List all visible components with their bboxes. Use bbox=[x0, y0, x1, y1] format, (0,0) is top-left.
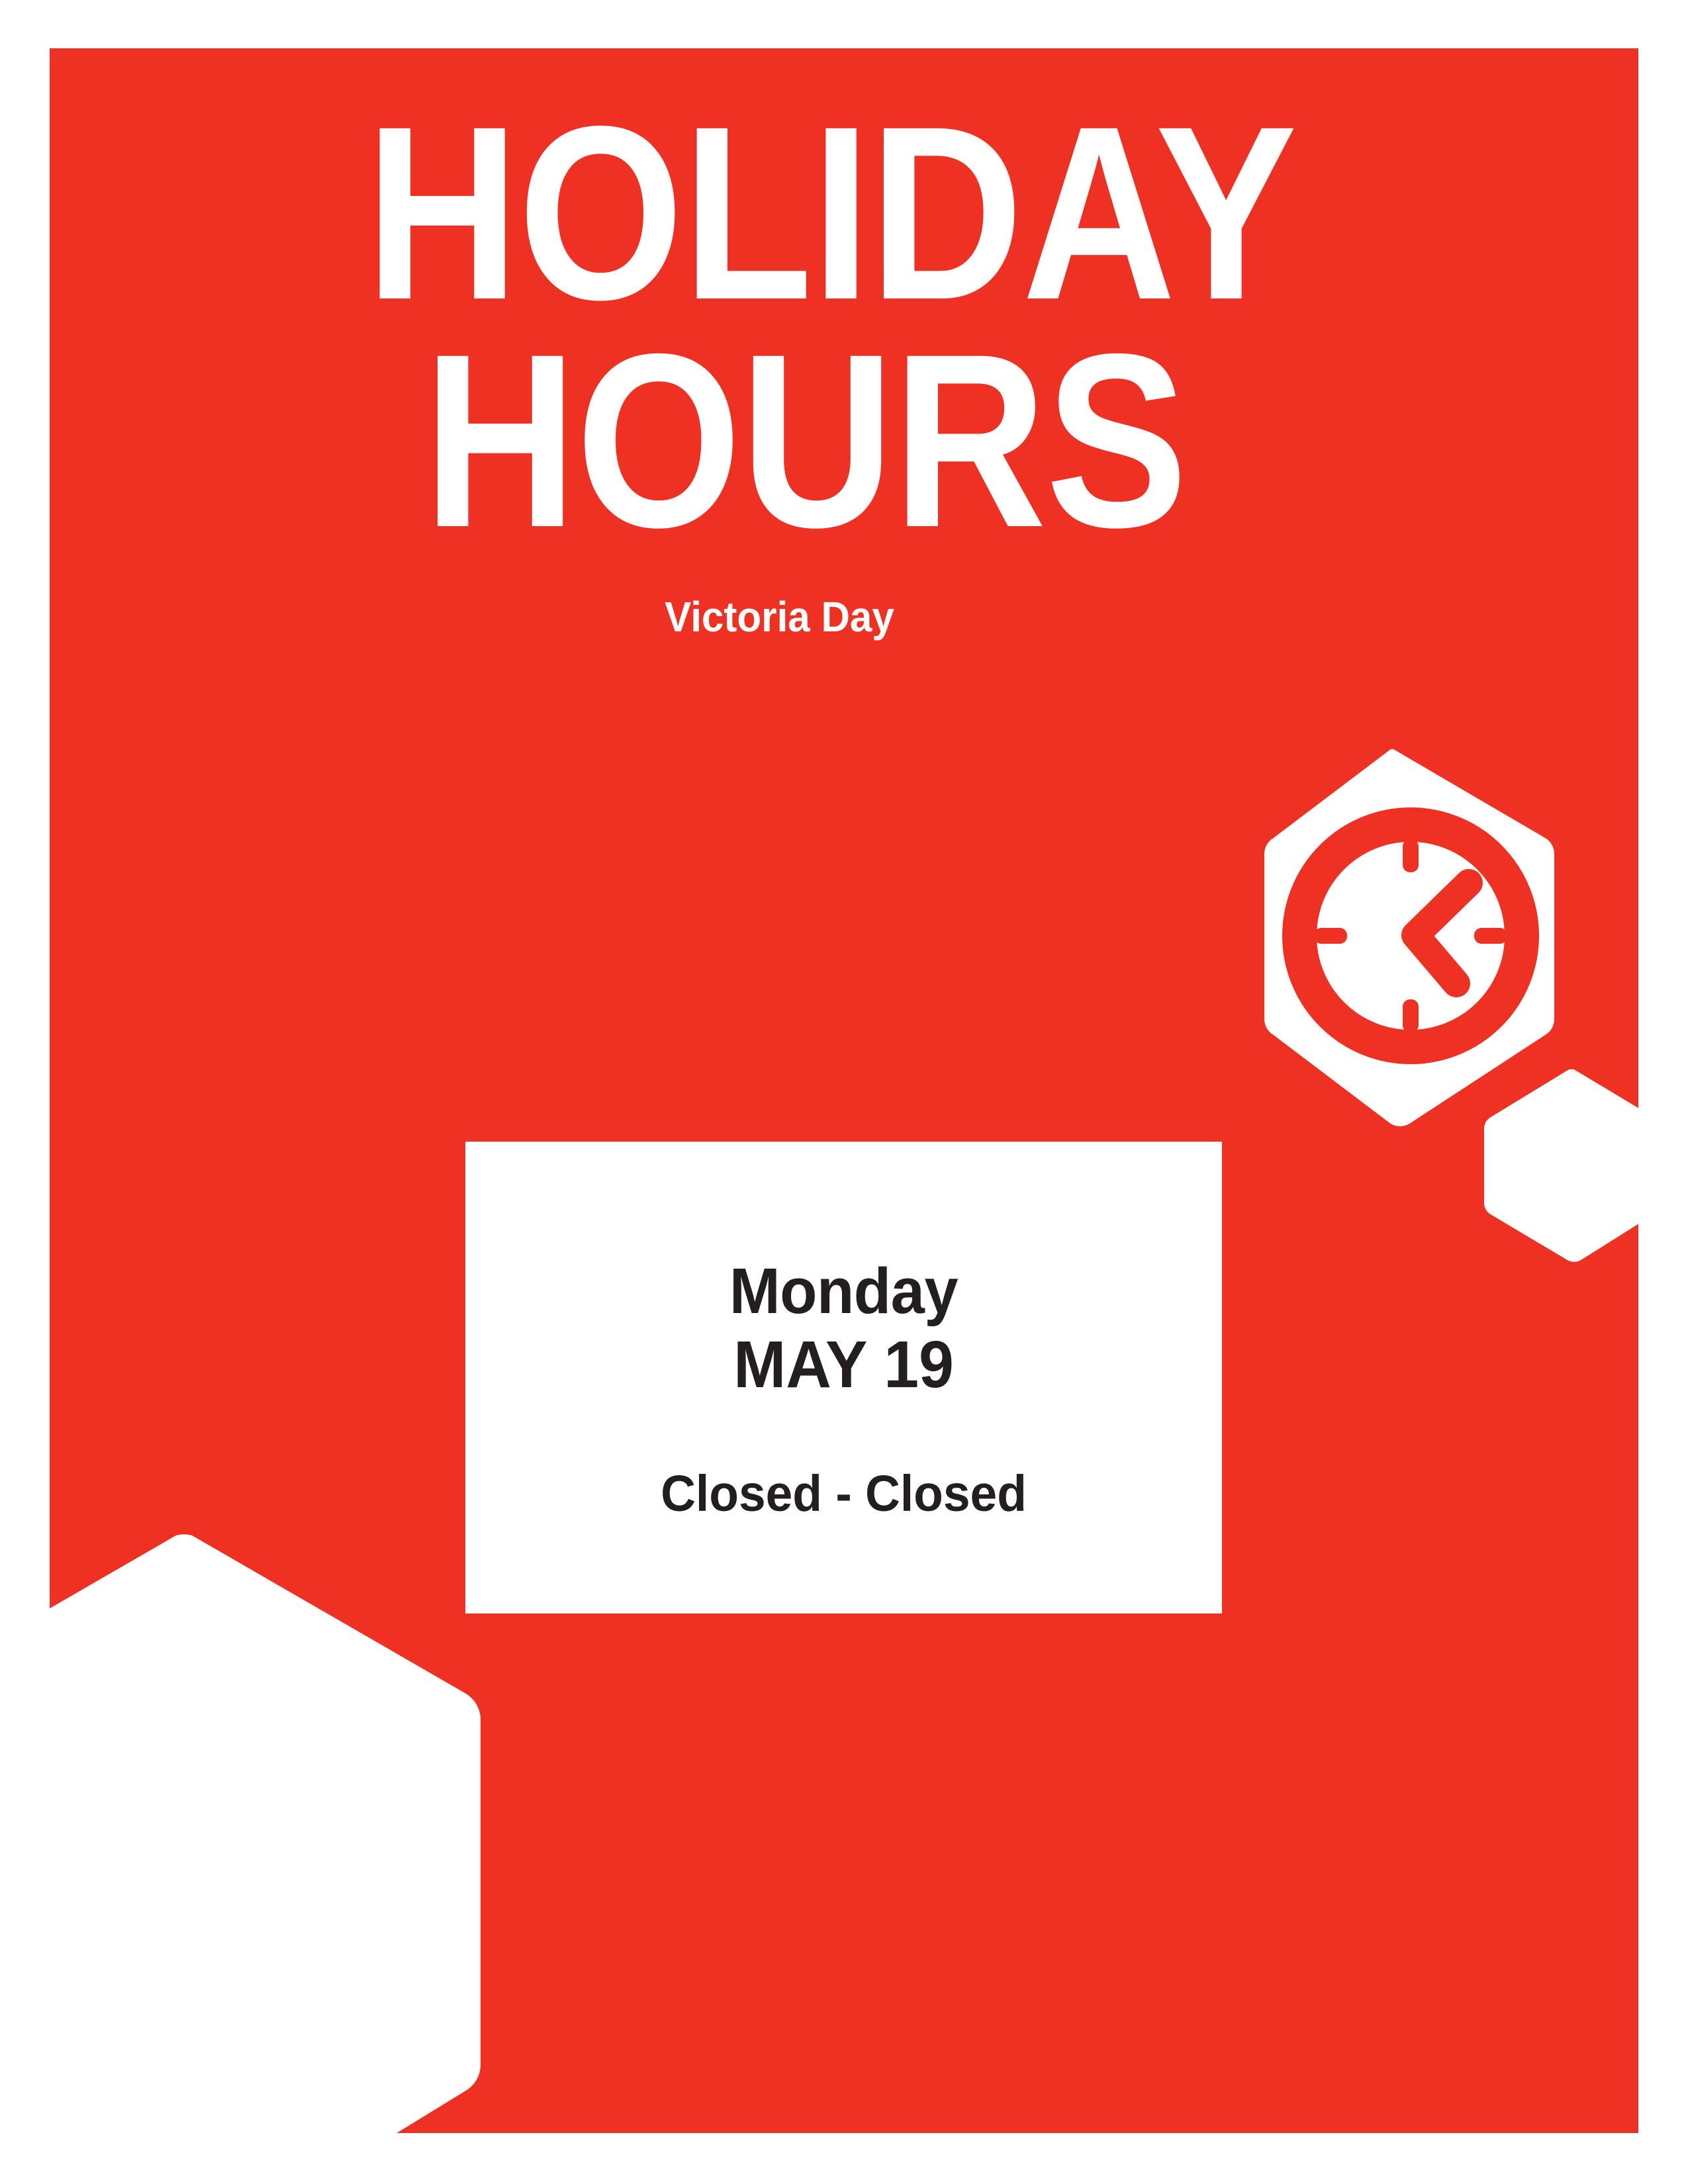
schedule-hours-label: Closed - Closed bbox=[485, 1466, 1203, 1522]
hexagon-large-decoration bbox=[0, 1522, 490, 2184]
hexagon-small-decoration bbox=[1476, 1066, 1638, 1264]
hexagon-large-shape bbox=[0, 1522, 490, 2184]
schedule-day-label: Monday bbox=[485, 1255, 1203, 1328]
page-title-line-1: HOLIDAY bbox=[136, 99, 1525, 327]
clock-icon bbox=[1299, 825, 1522, 1047]
schedule-card: Monday MAY 19 Closed - Closed bbox=[465, 1142, 1222, 1614]
hexagon-small-shape bbox=[1476, 1066, 1638, 1264]
poster-header: HOLIDAY HOURS Victoria Day bbox=[50, 99, 1638, 638]
page-subtitle: Victoria Day bbox=[0, 596, 1587, 638]
poster-canvas: HOLIDAY HOURS Victoria Day bbox=[0, 0, 1688, 2184]
schedule-date-label: MAY 19 bbox=[485, 1328, 1203, 1402]
page-title-line-2: HOURS bbox=[88, 327, 1521, 555]
